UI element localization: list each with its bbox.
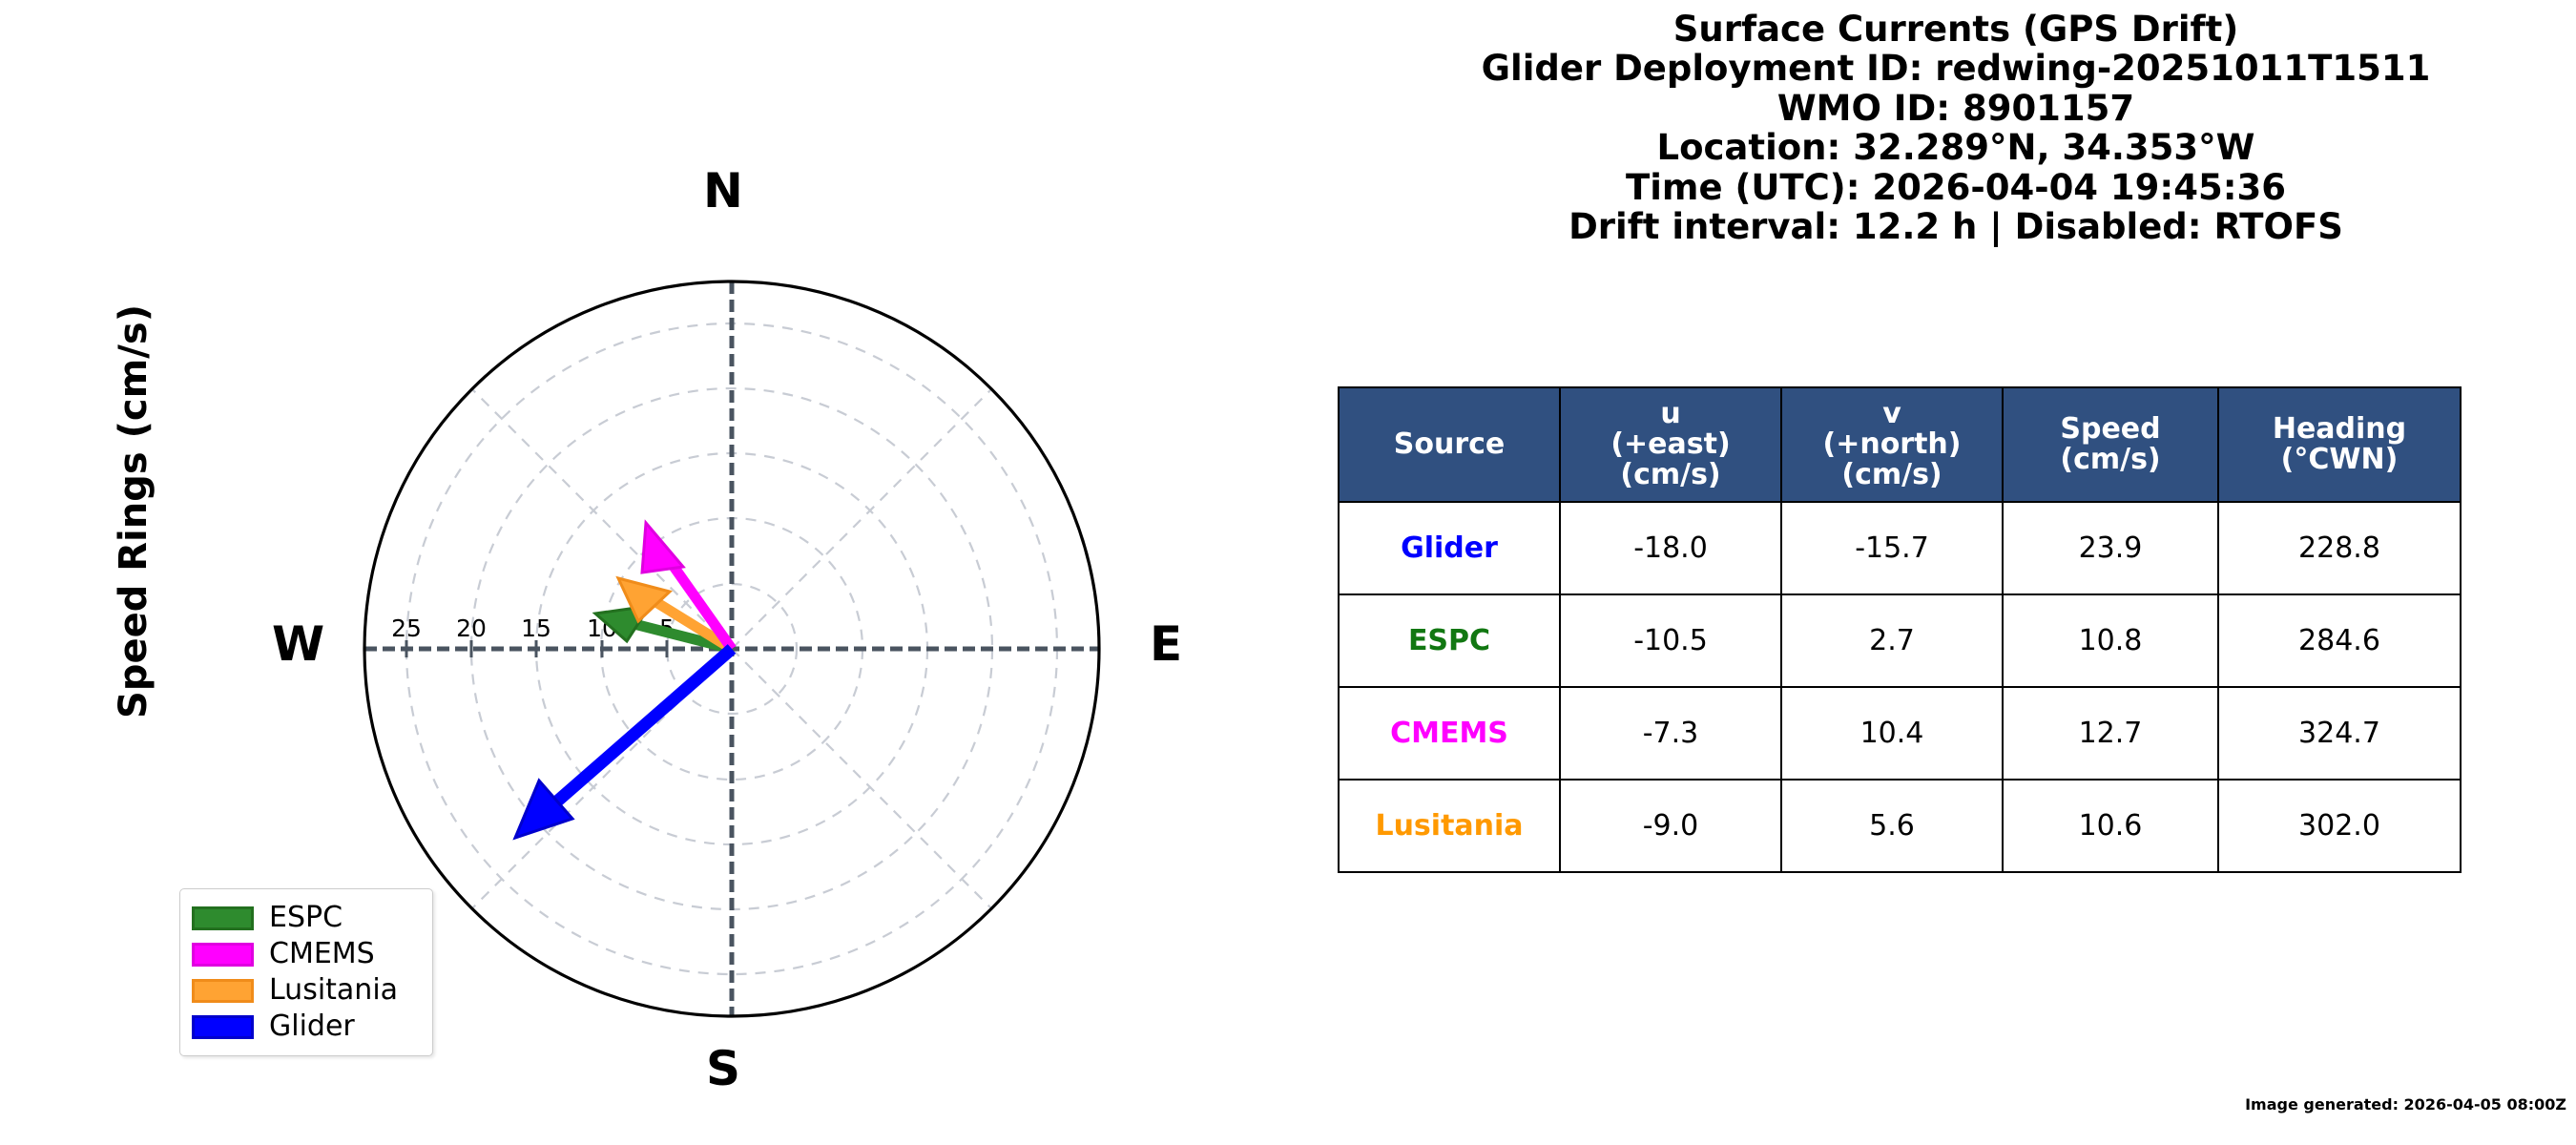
cell-speed: 10.6 [2003, 780, 2218, 872]
info-panel: Surface Currents (GPS Drift) Glider Depl… [1336, 0, 2576, 1145]
cell-source: Lusitania [1339, 780, 1560, 872]
cell-u: -18.0 [1560, 502, 1781, 594]
cell-u: -7.3 [1560, 687, 1781, 780]
cardinal-label-north: N [703, 167, 743, 215]
legend-item-label: Lusitania [269, 976, 398, 1005]
cell-speed: 10.8 [2003, 594, 2218, 687]
vector-glider [515, 649, 732, 838]
legend-item-label: Glider [269, 1012, 355, 1041]
legend-item-cmems: CMEMS [192, 936, 421, 972]
legend-item-espc: ESPC [192, 900, 421, 936]
cell-speed: 23.9 [2003, 502, 2218, 594]
plot-legend: ESPC CMEMS Lusitania Glider [179, 888, 433, 1056]
drift-interval-line: Drift interval: 12.2 h | Disabled: RTOFS [1336, 207, 2576, 246]
cell-source: Glider [1339, 502, 1560, 594]
title-block: Surface Currents (GPS Drift) Glider Depl… [1336, 10, 2576, 247]
legend-item-label: CMEMS [269, 940, 375, 968]
table-header-row: Source u(+east)(cm/s) v(+north)(cm/s) Sp… [1339, 387, 2461, 502]
cell-u: -9.0 [1560, 780, 1781, 872]
wmo-id-line: WMO ID: 8901157 [1336, 89, 2576, 128]
column-header-speed: Speed(cm/s) [2003, 387, 2218, 502]
cell-u: -10.5 [1560, 594, 1781, 687]
table-row: CMEMS -7.3 10.4 12.7 324.7 [1339, 687, 2461, 780]
location-line: Location: 32.289°N, 34.353°W [1336, 128, 2576, 167]
page-title: Surface Currents (GPS Drift) [1336, 10, 2576, 49]
radial-tick-label: 25 [391, 614, 422, 642]
deployment-id-line: Glider Deployment ID: redwing-20251011T1… [1336, 49, 2576, 88]
cell-heading: 324.7 [2218, 687, 2461, 780]
cardinal-label-west: W [272, 620, 324, 668]
column-header-v: v(+north)(cm/s) [1781, 387, 2003, 502]
table-row: Lusitania -9.0 5.6 10.6 302.0 [1339, 780, 2461, 872]
currents-table: Source u(+east)(cm/s) v(+north)(cm/s) Sp… [1338, 386, 2462, 873]
header-text: Source [1394, 427, 1506, 461]
cell-heading: 284.6 [2218, 594, 2461, 687]
legend-item-glider: Glider [192, 1009, 421, 1045]
column-header-heading: Heading(°CWN) [2218, 387, 2461, 502]
generation-timestamp: Image generated: 2026-04-05 08:00Z [1336, 1095, 2566, 1114]
table-row: Glider -18.0 -15.7 23.9 228.8 [1339, 502, 2461, 594]
cell-source: CMEMS [1339, 687, 1560, 780]
cell-v: 5.6 [1781, 780, 2003, 872]
cardinal-label-south: S [706, 1045, 740, 1093]
cell-v: 10.4 [1781, 687, 2003, 780]
legend-item-lusitania: Lusitania [192, 972, 421, 1009]
radial-tick-label: 20 [456, 614, 487, 642]
legend-swatch-icon [192, 906, 254, 930]
legend-item-label: ESPC [269, 904, 343, 932]
column-header-source: Source [1339, 387, 1560, 502]
cardinal-label-east: E [1150, 620, 1182, 668]
polar-plot-panel: 5 10 15 20 25 Speed Rings (cm/s) [0, 0, 1336, 1145]
y-axis-label: Speed Rings (cm/s) [112, 337, 156, 718]
radial-tick-label: 15 [521, 614, 551, 642]
time-line: Time (UTC): 2026-04-04 19:45:36 [1336, 168, 2576, 207]
column-header-u: u(+east)(cm/s) [1560, 387, 1781, 502]
legend-swatch-icon [192, 1015, 254, 1039]
cell-speed: 12.7 [2003, 687, 2218, 780]
cell-source: ESPC [1339, 594, 1560, 687]
legend-swatch-icon [192, 979, 254, 1003]
legend-swatch-icon [192, 943, 254, 967]
cell-v: -15.7 [1781, 502, 2003, 594]
cell-heading: 302.0 [2218, 780, 2461, 872]
cell-heading: 228.8 [2218, 502, 2461, 594]
table-row: ESPC -10.5 2.7 10.8 284.6 [1339, 594, 2461, 687]
cell-v: 2.7 [1781, 594, 2003, 687]
